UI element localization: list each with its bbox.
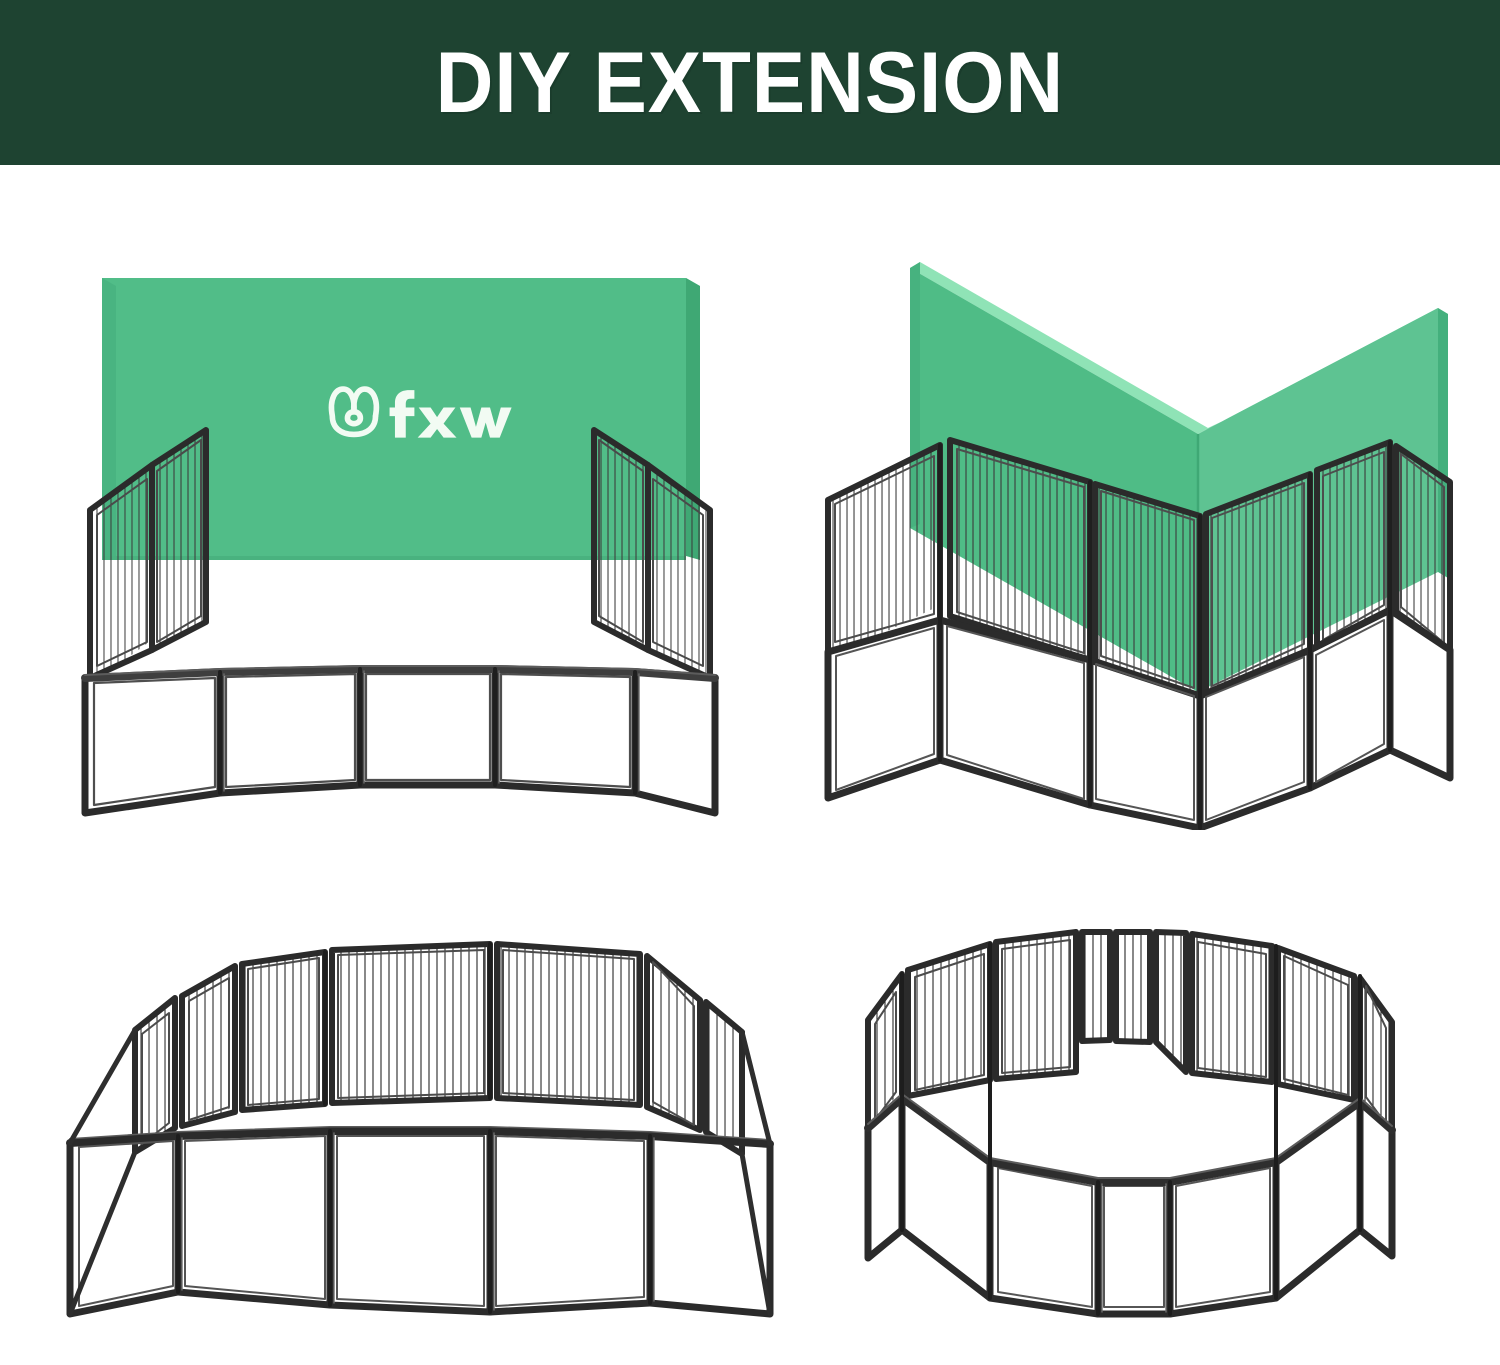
illustration-rectangular-pen	[60, 900, 780, 1320]
illustration-pen-against-straight-wall	[40, 260, 760, 830]
infographic-page: DIY EXTENSION	[0, 0, 1500, 1365]
pen-structure	[866, 912, 1394, 1314]
illustration-octagonal-pen	[820, 900, 1440, 1320]
pen-structure	[70, 929, 770, 1314]
header-banner: DIY EXTENSION	[0, 0, 1500, 165]
page-title: DIY EXTENSION	[436, 40, 1064, 126]
illustration-pen-against-corner-wall	[790, 260, 1470, 830]
illustration-grid	[0, 165, 1500, 1365]
